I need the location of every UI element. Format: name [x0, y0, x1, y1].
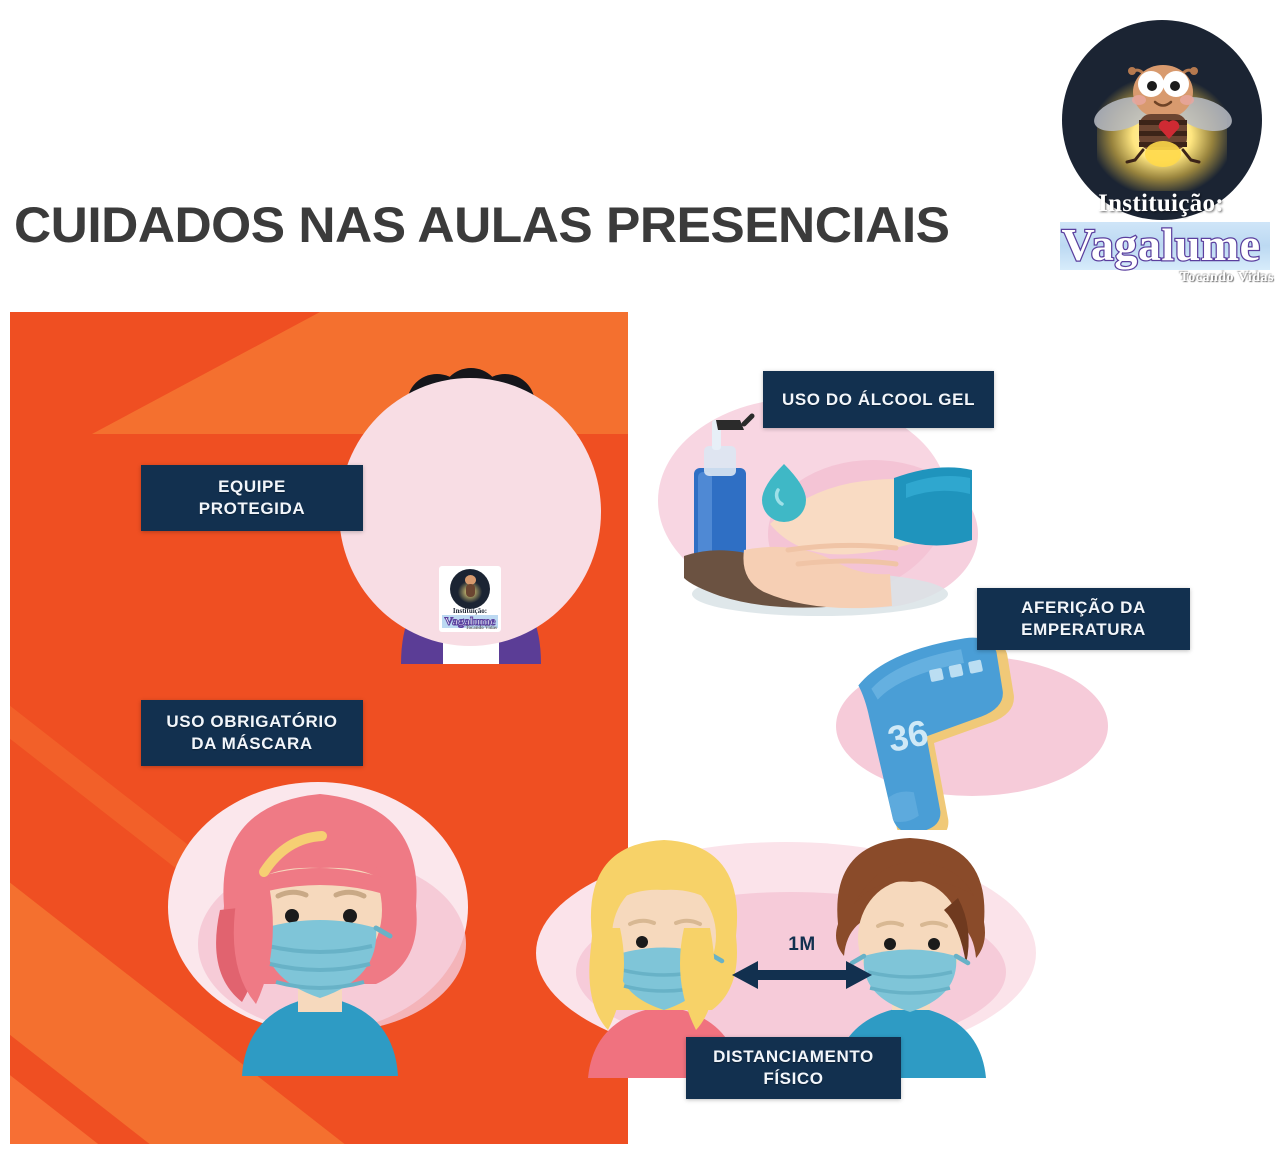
page-title: CUIDADOS NAS AULAS PRESENCIAIS — [14, 196, 949, 254]
chip-line-1: USO OBRIGATÓRIO — [166, 711, 337, 733]
illustration-temperature-check: 36 — [836, 630, 1118, 820]
label-equipe-protegida: EQUIPE PROTEGIDA — [141, 465, 363, 531]
chip-line-1: USO DO ÁLCOOL GEL — [782, 389, 975, 411]
firefly-bee-icon — [1087, 56, 1237, 176]
chip-line-2: PROTEGIDA — [199, 498, 305, 520]
shirt-logo-tagline: Tocando Vidas — [439, 626, 497, 631]
label-distanciamento-fisico: DISTANCIAMENTO FÍSICO — [686, 1037, 901, 1099]
illustration-staff-protected: Instituição: Vagalume Tocando Vidas — [331, 368, 611, 664]
vagalume-logo: Instituição: Vagalume Tocando Vidas — [1042, 20, 1280, 288]
double-arrow-icon — [732, 958, 872, 992]
chip-line-1: EQUIPE — [199, 476, 305, 498]
thermometer-display-value: 36 — [884, 711, 932, 759]
distance-label: 1M — [732, 934, 872, 956]
logo-institution-prefix: Instituição: — [1042, 190, 1280, 218]
poster-root: Instituição: Vagalume Tocando Vidas CUID… — [0, 0, 1280, 1150]
infrared-thermometer-figure: 36 — [836, 630, 1118, 830]
logo-tagline: Tocando Vidas — [1042, 270, 1274, 286]
illustration-mandatory-mask — [168, 760, 484, 1076]
illustration-alcohol-gel — [648, 398, 978, 618]
distance-indicator: 1M — [732, 934, 872, 994]
chip-line-1: DISTANCIAMENTO — [713, 1046, 874, 1068]
label-uso-obrigatorio-mascara: USO OBRIGATÓRIO DA MÁSCARA — [141, 700, 363, 766]
shirt-logo-disc — [450, 569, 490, 609]
logo-name: Vagalume — [1042, 218, 1280, 272]
label-uso-alcool-gel: USO DO ÁLCOOL GEL — [763, 371, 994, 428]
mask-girl-figure — [168, 760, 484, 1076]
shirt-logo-patch: Instituição: Vagalume Tocando Vidas — [439, 566, 501, 632]
chip-line-2: FÍSICO — [713, 1068, 874, 1090]
chip-line-2: DA MÁSCARA — [166, 733, 337, 755]
chip-line-1: AFERIÇÃO DA — [1021, 597, 1146, 619]
hands-sanitizer-figure — [648, 398, 978, 618]
label-afericao-temperatura: AFERIÇÃO DA EMPERATURA — [977, 588, 1190, 650]
chip-line-2: EMPERATURA — [1021, 619, 1146, 641]
